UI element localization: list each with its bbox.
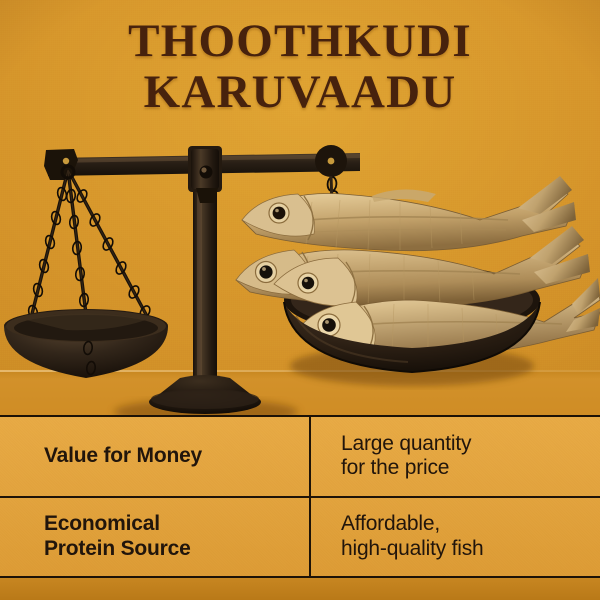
fish-eye [256,262,277,283]
feature-detail-1: Large quantity for the price [341,432,471,481]
footer-strip [0,578,600,600]
dried-fish [242,176,576,251]
feature-title-cell: Value for Money [0,417,311,496]
title-line-1: THOOTHKUDI [128,15,472,67]
feature-detail-2-line-1: Affordable, [341,512,484,536]
table-row: Value for Money Large quantity for the p… [0,417,600,498]
feature-detail-1-line-1: Large quantity [341,432,471,456]
table-row: Economical Protein Source Affordable, hi… [0,498,600,577]
fish-eye [298,273,318,293]
feature-title-1: Value for Money [44,444,202,468]
fish-bowl-group [222,150,600,395]
feature-title-2: Economical Protein Source [44,512,191,561]
feature-detail-2-line-2: high-quality fish [341,537,484,561]
poster-title: THOOTHKUDI KARUVAADU [0,16,600,118]
fish-eye [269,203,289,223]
feature-detail-2: Affordable, high-quality fish [341,512,484,561]
feature-title-cell: Economical Protein Source [0,498,311,577]
feature-detail-cell: Large quantity for the price [311,417,600,496]
poster-canvas: THOOTHKUDI KARUVAADU [0,0,600,600]
feature-title-2-line-2: Protein Source [44,537,191,561]
features-table: Value for Money Large quantity for the p… [0,415,600,578]
feature-title-2-line-1: Economical [44,512,191,536]
left-weighing-pan [4,309,168,378]
title-line-2: KARUVAADU [0,67,600,118]
feature-detail-1-line-2: for the price [341,456,471,480]
left-pan-chains [27,166,151,331]
feature-detail-cell: Affordable, high-quality fish [311,498,600,577]
